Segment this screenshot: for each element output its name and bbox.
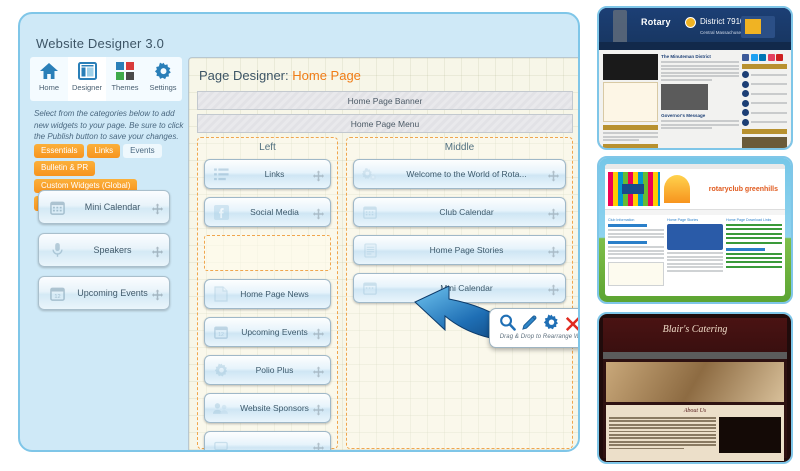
facebook-icon [209,205,233,220]
instructions-text: Select from the categories below to add … [34,108,186,143]
preview-col3-heading: Home Page Download Links [726,218,782,222]
preview-navbar [603,352,787,359]
preview-column-3: Home Page Download Links [726,218,782,286]
preview-rotary-club-green-hills[interactable]: rotaryclub greenhills Club Information H… [597,156,793,304]
svg-text:12: 12 [54,293,60,299]
move-grip-icon[interactable] [548,169,559,180]
column-header-left: Left [198,142,337,153]
widget-label: Welcome to the World of Rota... [382,169,565,179]
move-grip-icon[interactable] [152,202,163,213]
preview-column-middle: The Minuteman District Governor's Messag… [661,54,739,144]
palette-item-upcoming-events[interactable]: 12 Upcoming Events [38,276,170,310]
preview-columns: Club Information Home Page Stories Home … [605,215,785,289]
preview-brand: rotaryclub greenhills [694,186,782,193]
preview-column-1: Club Information [608,218,664,286]
preview-body: The Minuteman District Governor's Messag… [599,50,791,148]
sunrise-graphic [664,175,690,203]
column-middle: Middle Welcome to the World of Rota... C… [346,137,573,449]
palette-item-speakers[interactable]: Speakers [38,233,170,267]
designer-icon [78,60,97,82]
preview-brand: Blair's Catering [663,324,728,335]
widget-polio-plus[interactable]: Polio Plus [204,355,331,385]
calendar-12-icon: 12 [209,325,233,339]
delete-x-icon[interactable] [565,315,581,331]
widget-club-calendar[interactable]: Club Calendar [353,197,566,227]
preview-photo [742,137,787,151]
preview-page: rotaryclub greenhills Club Information H… [605,164,785,296]
move-grip-icon[interactable] [313,441,324,452]
page-title-prefix: Page Designer: [199,68,289,83]
move-grip-icon[interactable] [313,403,324,414]
move-grip-icon[interactable] [548,283,559,294]
preview-district: District 7910 [700,17,744,26]
widget-links[interactable]: Links [204,159,331,189]
gear-icon[interactable] [543,314,560,331]
category-essentials[interactable]: Essentials [34,144,84,158]
calendar-icon [358,281,382,295]
palette-item-mini-calendar[interactable]: Mini Calendar [38,190,170,224]
map-graphic [741,16,775,38]
preview-backdrop: Blair's Catering About Us [599,314,791,462]
preview-backdrop: rotaryclub greenhills Club Information H… [599,158,791,302]
home-icon [39,60,59,82]
preview-column-2: Home Page Stories [667,218,723,286]
svg-text:12: 12 [218,332,224,338]
move-grip-icon[interactable] [548,245,559,256]
widget-palette: Mini Calendar Speakers [38,190,170,319]
preview-col1-heading: Club Information [608,218,664,222]
widget-drop-zone[interactable] [204,235,331,271]
toolbar-item-settings[interactable]: Settings [144,57,182,101]
widget-partial-bottom[interactable] [204,431,331,452]
toolbar-item-home[interactable]: Home [30,57,68,101]
move-grip-icon[interactable] [152,288,163,299]
toolbar-label-designer: Designer [72,83,102,92]
preview-rotary-district-7910[interactable]: Rotary District 7910 Central Massachuset… [597,6,793,150]
preview-section-heading: About Us [609,408,781,414]
move-grip-icon[interactable] [152,245,163,256]
toolbar-label-home: Home [39,83,59,92]
app-window: Website Designer 3.0 Home Designer [18,12,580,452]
preview-portrait [661,84,708,110]
news-icon [209,286,233,302]
category-bulletin-pr[interactable]: Bulletin & PR [34,161,95,175]
preview-column-left [603,54,658,144]
page-title: Page Designer: Home Page [199,68,361,83]
preview-photo [603,54,658,80]
calendar-12-icon: 12 [44,286,70,301]
column-header-middle: Middle [347,142,572,153]
region-home-page-menu[interactable]: Home Page Menu [197,114,573,133]
themes-icon [116,60,134,82]
category-links[interactable]: Links [87,144,120,158]
page-title-value: Home Page [292,68,361,83]
toolbar-item-themes[interactable]: Themes [106,57,144,101]
region-label: Home Page Menu [351,119,420,129]
preview-page: Blair's Catering About Us [603,318,787,458]
page-designer-canvas: Page Designer: Home Page Home Page Banne… [188,57,580,452]
document-icon [358,243,382,258]
column-left: Left Links Social Media [197,137,338,449]
preview-calendar [603,82,658,122]
action-icon-row [490,309,580,334]
preview-column-right [742,54,787,144]
preview-hero: rotaryclub greenhills [605,169,785,209]
magnifier-icon[interactable] [499,314,516,331]
people-icon [209,402,233,415]
widget-label: Mini Calendar [382,283,565,293]
pencil-icon[interactable] [521,314,538,331]
move-grip-icon[interactable] [548,207,559,218]
main-toolbar: Home Designer Themes [30,57,182,101]
move-grip-icon[interactable] [313,169,324,180]
preview-image [667,224,723,250]
widget-website-sponsors[interactable]: Website Sponsors [204,393,331,423]
calendar-icon [44,200,70,215]
preview-hero-image [606,362,784,402]
preview-section-heading [603,125,658,130]
preview-header: Rotary District 7910 Central Massachuset… [599,8,791,50]
partial-icon [209,441,233,451]
move-grip-icon[interactable] [313,365,324,376]
widget-upcoming-events[interactable]: 12 Upcoming Events [204,317,331,347]
widget-mini-calendar[interactable]: Mini Calendar [353,273,566,303]
preview-navbar [599,42,791,50]
preview-header: Blair's Catering [603,318,787,352]
preview-sidebar-heading [742,64,787,69]
widget-action-popup: Drag & Drop to Rearrange Widgets [489,308,580,348]
microphone-icon [44,242,70,258]
preview-blairs-catering[interactable]: Blair's Catering About Us [597,312,793,464]
gears-icon [358,167,382,182]
widget-label: Home Page Stories [382,245,565,255]
move-grip-icon[interactable] [313,327,324,338]
preview-col2-heading: Home Page Stories [667,218,723,222]
toolbar-label-settings: Settings [149,83,176,92]
widget-home-page-stories[interactable]: Home Page Stories [353,235,566,265]
app-title: Website Designer 3.0 [36,36,164,51]
action-popup-hint: Drag & Drop to Rearrange Widgets [490,334,580,340]
widget-label: Home Page News [233,289,330,299]
widget-home-page-news[interactable]: Home Page News [204,279,331,309]
social-icons [742,54,787,61]
toolbar-item-designer[interactable]: Designer [68,57,106,101]
category-events[interactable]: Events [123,144,161,158]
social-network-collage [608,172,660,206]
calendar-icon [358,205,382,219]
region-home-page-banner[interactable]: Home Page Banner [197,91,573,110]
preview-brand: Rotary [641,17,671,27]
preview-body: About Us [606,405,784,461]
region-label: Home Page Banner [348,96,423,106]
gear-icon [209,363,233,378]
move-grip-icon[interactable] [313,207,324,218]
widget-welcome-to-the-world-of-rotary[interactable]: Welcome to the World of Rota... [353,159,566,189]
preview-section2: Governor's Message [661,113,739,118]
toolbar-label-themes: Themes [111,83,138,92]
widget-label: Club Calendar [382,207,565,217]
gear-icon [154,60,173,82]
rotary-wheel-icon [685,17,696,28]
preview-headline: The Minuteman District [661,54,739,59]
preview-photo [719,417,781,453]
list-icon [209,168,233,181]
widget-social-media[interactable]: Social Media [204,197,331,227]
